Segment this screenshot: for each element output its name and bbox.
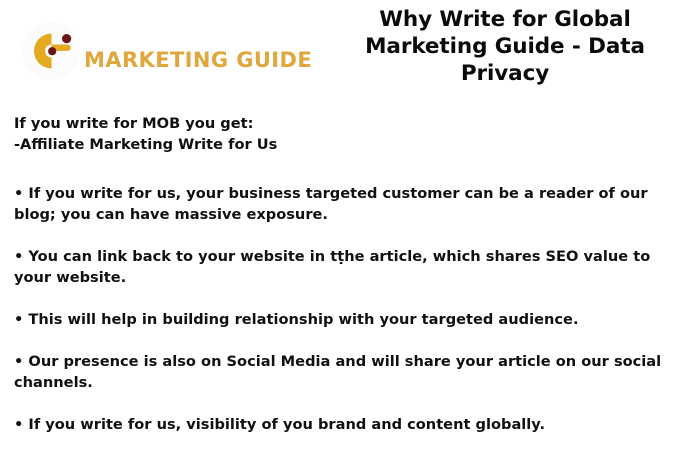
page-title-line-3: Privacy: [461, 61, 549, 86]
brand-logo: MARKETING GUIDE: [22, 22, 312, 80]
document-body: If you write for MOB you get: -Affiliate…: [14, 113, 686, 435]
list-item: • If you write for us, your business tar…: [14, 183, 686, 225]
list-item: • Our presence is also on Social Media a…: [14, 351, 686, 393]
list-item: • This will help in building relationshi…: [14, 309, 686, 330]
list-item: • If you write for us, visibility of you…: [14, 414, 686, 435]
page-title: Why Write for Global Marketing Guide - D…: [352, 6, 658, 87]
page-title-line-1: Why Write for Global: [379, 7, 630, 32]
intro-line-1: If you write for MOB you get:: [14, 113, 686, 134]
marketing-guide-logo-mark: [22, 22, 80, 80]
intro-paragraph: If you write for MOB you get: -Affiliate…: [14, 113, 686, 155]
brand-name-text: MARKETING GUIDE: [84, 48, 312, 80]
document-page: MARKETING GUIDE Why Write for Global Mar…: [0, 0, 700, 450]
intro-line-2: -Affiliate Marketing Write for Us: [14, 134, 686, 155]
page-title-line-2: Marketing Guide - Data: [365, 34, 645, 59]
benefits-list: • If you write for us, your business tar…: [14, 183, 686, 435]
list-item: • You can link back to your website in t…: [14, 246, 686, 288]
document-header: MARKETING GUIDE Why Write for Global Mar…: [0, 0, 700, 100]
